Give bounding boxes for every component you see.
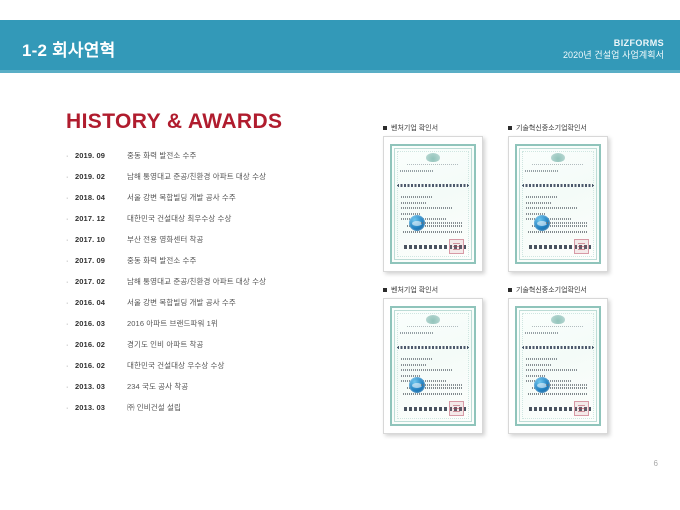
history-list-item: ·2016. 02대한민국 건설대상 우수상 수상 [66, 360, 366, 381]
certificate-fields [526, 196, 590, 224]
certificate-row: 벤처기업 확인서기술혁신중소기업확인서 [383, 282, 651, 434]
certificate-image[interactable] [383, 136, 483, 272]
history-heading: HISTORY & AWARDS [66, 110, 366, 134]
certificate-label: 기술혁신중소기업확인서 [516, 285, 587, 295]
official-seal-icon [534, 377, 550, 393]
history-item-date: 2017. 02 [75, 277, 127, 286]
history-item-description: 서울 강변 복합빌딩 개발 공사 수주 [127, 192, 366, 203]
certificate-cell: 벤처기업 확인서 [383, 282, 483, 434]
history-item-description: 중동 화력 발전소 수주 [127, 150, 366, 161]
history-list-item: ·2016. 032016 아파트 브랜드파워 1위 [66, 318, 366, 339]
square-bullet-icon [383, 288, 387, 292]
bullet-icon: · [66, 237, 75, 244]
brand-name: BIZFORMS [563, 37, 664, 49]
official-seal-icon [409, 215, 425, 231]
history-item-description: 234 국도 공사 착공 [127, 381, 366, 392]
history-list-item: ·2018. 04서울 강변 복합빌딩 개발 공사 수주 [66, 192, 366, 213]
certificate-title-text [522, 346, 594, 349]
history-item-description: 경기도 인비 아파트 착공 [127, 339, 366, 350]
history-item-description: 부산 전용 영화센터 착공 [127, 234, 366, 245]
certificate-border [515, 306, 601, 426]
certificate-image[interactable] [508, 298, 608, 434]
certificate-fields [401, 196, 465, 224]
history-item-description: 남해 통영대교 준공/친환경 아파트 대상 수상 [127, 171, 366, 182]
certificate-title-text [397, 346, 469, 349]
certificate-microtext [407, 326, 459, 327]
history-item-date: 2018. 04 [75, 193, 127, 202]
bullet-icon: · [66, 363, 75, 370]
certificate-body-text [403, 387, 464, 399]
history-list-item: ·2017. 12대한민국 건설대상 최우수상 수상 [66, 213, 366, 234]
bullet-icon: · [66, 153, 75, 160]
slide-canvas: 1-2 회사연혁 BIZFORMS 2020년 건설업 사업계획서 HISTOR… [0, 0, 680, 510]
certificate-border [390, 306, 476, 426]
history-item-description: 2016 아파트 브랜드파워 1위 [127, 318, 366, 329]
history-item-description: 남해 통영대교 준공/친환경 아파트 대상 수상 [127, 276, 366, 287]
history-section: HISTORY & AWARDS ·2019. 09중동 화력 발전소 수주·2… [66, 110, 366, 423]
certificate-body-text [528, 387, 589, 399]
history-item-date: 2017. 10 [75, 235, 127, 244]
certificate-image[interactable] [508, 136, 608, 272]
certificate-microtext [407, 164, 459, 165]
national-emblem-icon [551, 153, 565, 162]
history-list-item: ·2016. 02경기도 인비 아파트 착공 [66, 339, 366, 360]
page-number: 6 [654, 459, 658, 468]
bullet-icon: · [66, 195, 75, 202]
certificate-cell: 기술혁신중소기업확인서 [508, 282, 608, 434]
bullet-icon: · [66, 321, 75, 328]
bullet-icon: · [66, 405, 75, 412]
history-list-item: ·2013. 03234 국도 공사 착공 [66, 381, 366, 402]
certificate-body-text [403, 225, 464, 237]
certificate-body-text [528, 225, 589, 237]
red-stamp-icon [574, 401, 589, 416]
history-item-date: 2013. 03 [75, 382, 127, 391]
certificate-reference-number [400, 170, 434, 172]
square-bullet-icon [508, 126, 512, 130]
history-list-item: ·2019. 09중동 화력 발전소 수주 [66, 150, 366, 171]
history-item-description: 중동 화력 발전소 수주 [127, 255, 366, 266]
certificate-caption: 기술혁신중소기업확인서 [508, 282, 608, 298]
certificate-caption: 기술혁신중소기업확인서 [508, 120, 608, 136]
certificate-label: 기술혁신중소기업확인서 [516, 123, 587, 133]
certificate-issue-date [546, 222, 588, 224]
square-bullet-icon [383, 126, 387, 130]
bullet-icon: · [66, 174, 75, 181]
certificate-border [515, 144, 601, 264]
red-stamp-icon [449, 401, 464, 416]
certificate-reference-number [400, 332, 434, 334]
history-list-item: ·2013. 03㈜ 인비건설 설립 [66, 402, 366, 423]
certificate-fields [526, 358, 590, 386]
certificate-issue-date [421, 222, 463, 224]
certificate-caption: 벤처기업 확인서 [383, 282, 483, 298]
certificate-label: 벤처기업 확인서 [391, 285, 438, 295]
national-emblem-icon [551, 315, 565, 324]
certificate-title-text [522, 184, 594, 187]
certificate-caption: 벤처기업 확인서 [383, 120, 483, 136]
history-item-date: 2016. 02 [75, 340, 127, 349]
header-underline [0, 70, 680, 73]
bullet-icon: · [66, 258, 75, 265]
national-emblem-icon [426, 315, 440, 324]
square-bullet-icon [508, 288, 512, 292]
page-title: 1-2 회사연혁 [22, 36, 115, 61]
certificate-label: 벤처기업 확인서 [391, 123, 438, 133]
certificate-issuer-text [404, 407, 466, 411]
history-item-date: 2016. 02 [75, 361, 127, 370]
certificate-issuer-text [404, 245, 466, 249]
bullet-icon: · [66, 300, 75, 307]
bullet-icon: · [66, 279, 75, 286]
history-item-date: 2017. 12 [75, 214, 127, 223]
history-item-description: 대한민국 건설대상 우수상 수상 [127, 360, 366, 371]
bullet-icon: · [66, 216, 75, 223]
red-stamp-icon [449, 239, 464, 254]
certificate-cell: 벤처기업 확인서 [383, 120, 483, 272]
history-list: ·2019. 09중동 화력 발전소 수주·2019. 02남해 통영대교 준공… [66, 150, 366, 423]
certificate-title-text [397, 184, 469, 187]
certificate-reference-number [525, 170, 559, 172]
history-item-date: 2019. 09 [75, 151, 127, 160]
history-item-description: ㈜ 인비건설 설립 [127, 402, 366, 413]
certificate-reference-number [525, 332, 559, 334]
certificate-issuer-text [529, 407, 591, 411]
history-list-item: ·2016. 04서울 강변 복합빌딩 개발 공사 수주 [66, 297, 366, 318]
certificate-issue-date [546, 384, 588, 386]
history-item-description: 서울 강변 복합빌딩 개발 공사 수주 [127, 297, 366, 308]
history-item-date: 2016. 04 [75, 298, 127, 307]
certificates-grid: 벤처기업 확인서기술혁신중소기업확인서벤처기업 확인서기술혁신중소기업확인서 [383, 120, 651, 434]
certificate-fields [401, 358, 465, 386]
official-seal-icon [534, 215, 550, 231]
history-item-date: 2016. 03 [75, 319, 127, 328]
history-list-item: ·2017. 09중동 화력 발전소 수주 [66, 255, 366, 276]
history-item-date: 2017. 09 [75, 256, 127, 265]
history-item-date: 2019. 02 [75, 172, 127, 181]
document-subtitle: 2020년 건설업 사업계획서 [563, 49, 664, 61]
bullet-icon: · [66, 384, 75, 391]
history-list-item: ·2017. 02남해 통영대교 준공/친환경 아파트 대상 수상 [66, 276, 366, 297]
bullet-icon: · [66, 342, 75, 349]
certificate-row: 벤처기업 확인서기술혁신중소기업확인서 [383, 120, 651, 272]
certificate-microtext [532, 164, 584, 165]
official-seal-icon [409, 377, 425, 393]
certificate-border [390, 144, 476, 264]
national-emblem-icon [426, 153, 440, 162]
history-item-date: 2013. 03 [75, 403, 127, 412]
history-list-item: ·2017. 10부산 전용 영화센터 착공 [66, 234, 366, 255]
certificate-cell: 기술혁신중소기업확인서 [508, 120, 608, 272]
certificate-issuer-text [529, 245, 591, 249]
brand-block: BIZFORMS 2020년 건설업 사업계획서 [563, 37, 664, 61]
red-stamp-icon [574, 239, 589, 254]
certificate-microtext [532, 326, 584, 327]
history-list-item: ·2019. 02남해 통영대교 준공/친환경 아파트 대상 수상 [66, 171, 366, 192]
certificate-issue-date [421, 384, 463, 386]
certificate-image[interactable] [383, 298, 483, 434]
history-item-description: 대한민국 건설대상 최우수상 수상 [127, 213, 366, 224]
